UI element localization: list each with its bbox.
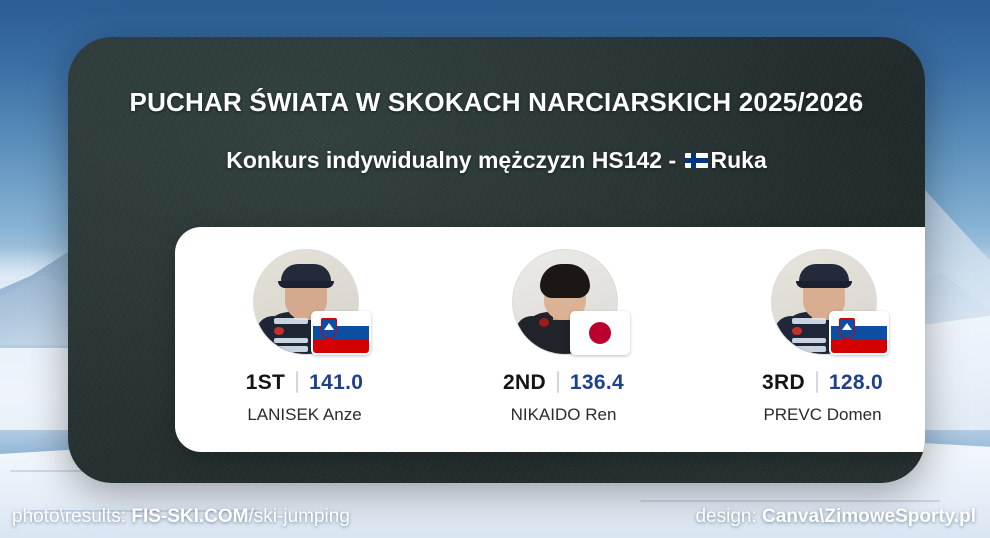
- page-title: PUCHAR ŚWIATA W SKOKACH NARCIARSKICH 202…: [68, 87, 925, 118]
- footer-left-suffix: /ski-jumping: [249, 506, 350, 527]
- rank-row: 2ND 136.4: [503, 371, 624, 393]
- rank-divider: [296, 371, 298, 393]
- score-value: 141.0: [309, 372, 363, 393]
- rank-divider: [557, 371, 559, 393]
- rank-label: 2ND: [503, 372, 546, 393]
- rank-row: 3RD 128.0: [762, 371, 883, 393]
- athlete-name: LANISEK Anze: [247, 405, 361, 425]
- poster-stage: PUCHAR ŚWIATA W SKOKACH NARCIARSKICH 202…: [0, 0, 990, 538]
- rank-row: 1ST 141.0: [246, 371, 363, 393]
- japan-flag-icon: [570, 311, 630, 355]
- podium-place-2: 2ND 136.4 NIKAIDO Ren: [449, 249, 679, 425]
- footer-left-source: FIS-SKI.COM: [131, 506, 248, 527]
- avatar: [771, 249, 875, 353]
- podium-place-3: 3RD 128.0 PREVC Domen: [708, 249, 926, 425]
- podium-place-1: 1ST 141.0 LANISEK Anze: [190, 249, 420, 425]
- finland-flag-icon: [685, 153, 708, 168]
- avatar: [512, 249, 616, 353]
- footer-right-source: Canva\ZimoweSporty.pl: [762, 506, 976, 527]
- rank-divider: [816, 371, 818, 393]
- podium-panel: 1ST 141.0 LANISEK Anze: [175, 227, 925, 452]
- poster-subtitle-text: Konkurs indywidualny mężczyzn HS142 -: [226, 147, 682, 174]
- athlete-name: NIKAIDO Ren: [511, 405, 617, 425]
- score-value: 128.0: [829, 372, 883, 393]
- snow-track-line: [640, 500, 940, 502]
- footer-photo-credit: photo\results: FIS-SKI.COM/ski-jumping: [12, 506, 350, 528]
- poster-subtitle: Konkurs indywidualny mężczyzn HS142 - Ru…: [68, 147, 925, 174]
- score-value: 136.4: [570, 372, 624, 393]
- poster-card: PUCHAR ŚWIATA W SKOKACH NARCIARSKICH 202…: [68, 37, 925, 483]
- footer-design-credit: design: Canva\ZimoweSporty.pl: [695, 506, 976, 528]
- slovenia-flag-icon: [311, 311, 371, 355]
- poster-subtitle-venue: Ruka: [711, 147, 767, 174]
- athlete-name: PREVC Domen: [763, 405, 881, 425]
- slovenia-flag-icon: [829, 311, 889, 355]
- footer-left-prefix: photo\results:: [12, 506, 131, 527]
- avatar: [253, 249, 357, 353]
- footer-right-prefix: design:: [695, 506, 762, 527]
- rank-label: 3RD: [762, 372, 805, 393]
- rank-label: 1ST: [246, 372, 285, 393]
